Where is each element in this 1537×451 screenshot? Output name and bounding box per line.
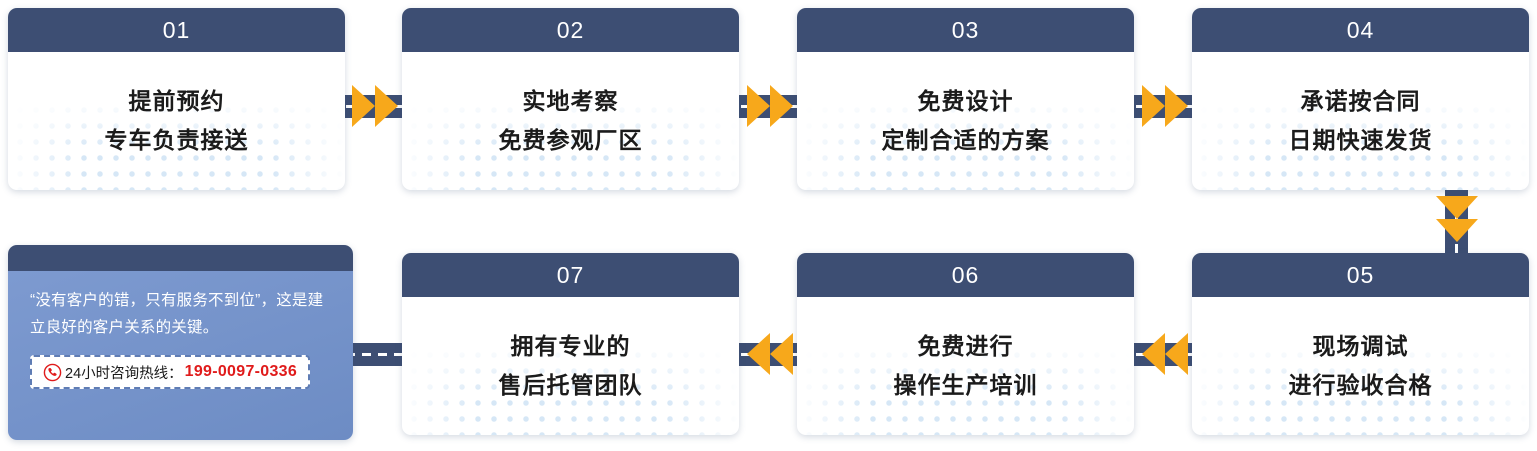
arrow-right-icon [352, 85, 375, 127]
step-card-05[interactable]: 05 现场调试 进行验收合格 [1192, 253, 1529, 435]
step-text-line-1: 免费设计 [918, 90, 1014, 113]
step-card-body: 免费进行 操作生产培训 [797, 297, 1134, 435]
arrow-left-icon [1142, 333, 1165, 375]
arrow-left-icon [1165, 333, 1188, 375]
step-number-badge: 05 [1192, 253, 1529, 297]
step-text-line-2: 日期快速发货 [1289, 129, 1433, 152]
phone-icon [43, 363, 62, 382]
hotline-number[interactable]: 199-0097-0336 [185, 363, 297, 381]
step-card-body: 实地考察 免费参观厂区 [402, 52, 739, 190]
step-number: 05 [1347, 262, 1375, 289]
arrow-right-icon [770, 85, 793, 127]
step-card-body: 现场调试 进行验收合格 [1192, 297, 1529, 435]
step-text-line-2: 定制合适的方案 [882, 129, 1050, 152]
arrow-down-icon [1436, 219, 1478, 242]
step-number-badge: 03 [797, 8, 1134, 52]
arrow-right-icon [1142, 85, 1165, 127]
step-card-body: 提前预约 专车负责接送 [8, 52, 345, 190]
step-text-line-1: 实地考察 [523, 90, 619, 113]
step-number: 03 [952, 17, 980, 44]
step-card-body: 拥有专业的 售后托管团队 [402, 297, 739, 435]
step-card-body: 免费设计 定制合适的方案 [797, 52, 1134, 190]
step-text-line-2: 专车负责接送 [105, 129, 249, 152]
step-text-line-1: 提前预约 [129, 90, 225, 113]
hotline-label: 24小时咨询热线： [65, 362, 183, 383]
info-card-header-strip [8, 245, 353, 271]
arrow-right-icon [747, 85, 770, 127]
step-card-07[interactable]: 07 拥有专业的 售后托管团队 [402, 253, 739, 435]
step-text-line-2: 进行验收合格 [1289, 374, 1433, 397]
step-number: 02 [557, 17, 585, 44]
step-text-line-1: 承诺按合同 [1301, 90, 1421, 113]
step-text-line-1: 拥有专业的 [511, 335, 631, 358]
service-quote-line-1: “没有客户的错，只有服务不到位”，这是建 [30, 287, 331, 314]
arrow-left-icon [770, 333, 793, 375]
contact-info-card[interactable]: “没有客户的错，只有服务不到位”，这是建 立良好的客户关系的关键。 24小时咨询… [8, 245, 353, 440]
step-text-line-2: 售后托管团队 [499, 374, 643, 397]
step-number-badge: 01 [8, 8, 345, 52]
step-card-06[interactable]: 06 免费进行 操作生产培训 [797, 253, 1134, 435]
info-card-body: “没有客户的错，只有服务不到位”，这是建 立良好的客户关系的关键。 24小时咨询… [8, 271, 353, 440]
step-number-badge: 02 [402, 8, 739, 52]
step-number: 04 [1347, 17, 1375, 44]
step-text-line-2: 免费参观厂区 [499, 129, 643, 152]
hotline-pill[interactable]: 24小时咨询热线： 199-0097-0336 [30, 355, 310, 389]
service-quote-line-2: 立良好的客户关系的关键。 [30, 314, 331, 341]
step-number-badge: 06 [797, 253, 1134, 297]
step-text-line-2: 操作生产培训 [894, 374, 1038, 397]
step-card-body: 承诺按合同 日期快速发货 [1192, 52, 1529, 190]
arrow-down-icon [1436, 196, 1478, 219]
step-card-04[interactable]: 04 承诺按合同 日期快速发货 [1192, 8, 1529, 190]
step-text-line-1: 免费进行 [918, 335, 1014, 358]
arrow-right-icon [375, 85, 398, 127]
arrow-right-icon [1165, 85, 1188, 127]
step-number-badge: 07 [402, 253, 739, 297]
step-number-badge: 04 [1192, 8, 1529, 52]
step-card-03[interactable]: 03 免费设计 定制合适的方案 [797, 8, 1134, 190]
step-number: 07 [557, 262, 585, 289]
step-text-line-1: 现场调试 [1313, 335, 1409, 358]
step-number: 06 [952, 262, 980, 289]
process-flow-diagram: 01 提前预约 专车负责接送 02 实地考察 免费参观厂区 03 免费设计 定制… [0, 0, 1537, 451]
step-card-01[interactable]: 01 提前预约 专车负责接送 [8, 8, 345, 190]
step-card-02[interactable]: 02 实地考察 免费参观厂区 [402, 8, 739, 190]
step-number: 01 [163, 17, 191, 44]
arrow-left-icon [747, 333, 770, 375]
